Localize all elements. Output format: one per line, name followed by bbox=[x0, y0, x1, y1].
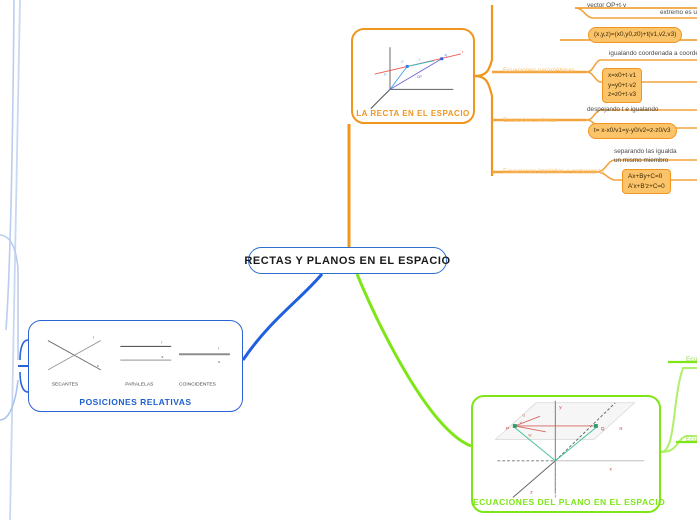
label-ecuacion-continua[interactable]: Ecuación continua bbox=[503, 116, 555, 125]
wire-posiciones-bottom bbox=[20, 372, 28, 392]
svg-text:z: z bbox=[530, 491, 533, 496]
wire-left-edge-3 bbox=[0, 235, 18, 360]
wire-posiciones-top bbox=[20, 340, 28, 360]
box-vector-equation[interactable]: (x,y,z)=(x0,y0,z0)+t(v1,v2,v3) bbox=[588, 27, 682, 43]
wire-recta-spine-up bbox=[475, 5, 492, 76]
svg-text:COINCIDENTES: COINCIDENTES bbox=[179, 382, 217, 388]
svg-text:P: P bbox=[506, 426, 509, 432]
wire-left-edge-4 bbox=[0, 380, 18, 420]
svg-text:p: p bbox=[402, 60, 404, 64]
box-implicitas-equations[interactable]: Ax+By+C=0 A'x+B'z+C=0 bbox=[622, 169, 671, 194]
node-posiciones-relativas[interactable]: r s SECANTES r s PARALELAS r s COINCIDEN… bbox=[28, 320, 243, 412]
label-continua-note[interactable]: despejando t e igualando bbox=[587, 105, 658, 114]
svg-text:x: x bbox=[609, 467, 612, 472]
svg-text:s: s bbox=[161, 354, 163, 359]
svg-text:r: r bbox=[218, 345, 220, 350]
node-ecuaciones-del-plano[interactable]: y x z P Q u v w π ECUACIONES DEL PLANO E… bbox=[471, 395, 661, 513]
plano-diagram: y x z P Q u v w π bbox=[473, 397, 659, 511]
root-node-label: RECTAS Y PLANOS EN EL ESPACIO bbox=[244, 255, 450, 267]
svg-text:q: q bbox=[445, 53, 447, 57]
label-plano-sub-1-cut[interactable]: Ecu bbox=[686, 356, 697, 363]
svg-text:SECANTES: SECANTES bbox=[52, 382, 79, 388]
node-la-recta-en-el-espacio[interactable]: r p v q P OP LA RECTA EN EL ESPACIO bbox=[351, 28, 475, 124]
svg-text:s: s bbox=[97, 363, 99, 368]
label-ecuaciones-implicitas[interactable]: Ecuaciones implícitas o cartesianas bbox=[503, 167, 604, 176]
label-extremo-note[interactable]: extremo es u bbox=[660, 9, 697, 16]
node-recta-caption: LA RECTA EN EL ESPACIO bbox=[353, 109, 473, 118]
box-continua-equation[interactable]: t= x-x0/v1=y-y0/v2=z-z0/v3 bbox=[588, 123, 677, 139]
svg-text:s: s bbox=[218, 359, 220, 364]
svg-text:P: P bbox=[384, 73, 387, 77]
label-igualando-note[interactable]: igualando coordenada a coorden bbox=[609, 50, 697, 57]
wire-recta-spine-down bbox=[475, 76, 492, 176]
label-vector-note[interactable]: vector OP+t·v bbox=[587, 1, 626, 10]
label-implicitas-note[interactable]: separando las igualda un mismo miembro bbox=[614, 147, 677, 166]
wire-left-edge-2 bbox=[10, 0, 20, 520]
svg-text:OP: OP bbox=[417, 75, 423, 79]
svg-text:Q: Q bbox=[601, 426, 605, 432]
svg-text:r: r bbox=[161, 340, 163, 345]
svg-text:PARALELAS: PARALELAS bbox=[125, 382, 154, 388]
svg-text:v: v bbox=[419, 58, 421, 62]
node-posiciones-caption: POSICIONES RELATIVAS bbox=[29, 397, 242, 407]
root-node[interactable]: RECTAS Y PLANOS EN EL ESPACIO bbox=[248, 247, 447, 274]
label-plano-sub-2-cut[interactable]: Ecu bbox=[686, 436, 697, 443]
wire-left-edge-1 bbox=[6, 0, 14, 330]
svg-text:r: r bbox=[93, 335, 95, 340]
node-plano-caption: ECUACIONES DEL PLANO EN EL ESPACIO bbox=[473, 497, 659, 507]
wire-root-to-posiciones bbox=[243, 274, 322, 360]
label-ecuaciones-parametricas[interactable]: Ecuaciones paramétricas bbox=[503, 66, 575, 75]
svg-text:r: r bbox=[462, 50, 464, 54]
box-parametricas-equations[interactable]: x=x0+t·v1 y=y0+t·v2 z=z0+t·v3 bbox=[602, 68, 642, 103]
mindmap-canvas: RECTAS Y PLANOS EN EL ESPACIO r p v q P … bbox=[0, 0, 697, 520]
svg-text:π: π bbox=[619, 427, 623, 432]
wire-root-to-plano bbox=[357, 274, 471, 446]
